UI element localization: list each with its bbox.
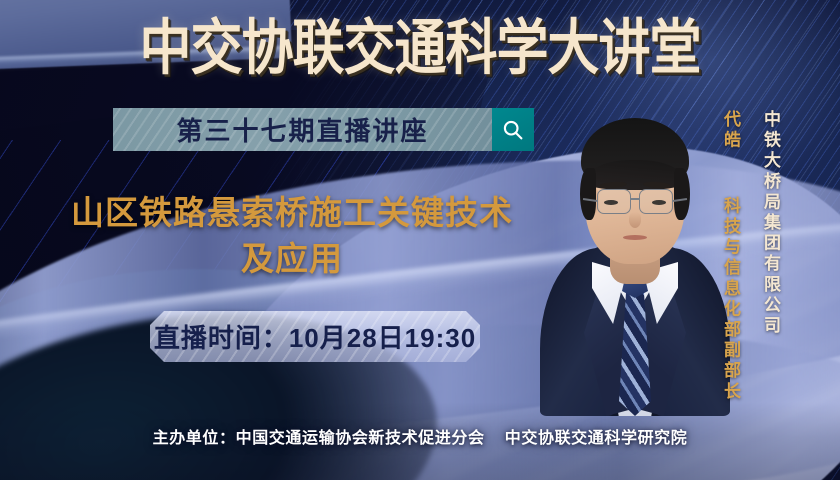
topic-title: 山区铁路悬索桥施工关键技术 及应用 <box>42 190 542 282</box>
broadcast-time-label: 直播时间：10月28日19:30 <box>150 311 480 362</box>
glasses-lens-right <box>639 189 673 214</box>
nose <box>629 212 641 228</box>
topic-line-2: 及应用 <box>42 236 542 282</box>
glasses-bridge <box>631 198 639 200</box>
speaker-portrait <box>540 86 730 416</box>
session-label: 第三十七期直播讲座 <box>113 108 492 151</box>
hair-side-right <box>674 168 690 220</box>
session-bar: 第三十七期直播讲座 <box>113 108 492 151</box>
mouth <box>623 235 647 240</box>
webinar-poster: 中交协联交通科学大讲堂 第三十七期直播讲座 山区铁路悬索桥施工关键技术 及应用 … <box>0 0 840 480</box>
glasses-lens-left <box>597 189 631 214</box>
search-button[interactable] <box>492 108 534 151</box>
organizer-footer: 主办单位：中国交通运输协会新技术促进分会 中交协联交通科学研究院 <box>0 424 840 448</box>
speaker-name-and-title: 代皓 科技与信息化部副部长 <box>718 110 743 402</box>
hair-side-left <box>580 168 596 220</box>
topic-line-1: 山区铁路悬索桥施工关键技术 <box>42 190 542 236</box>
search-icon <box>501 118 525 142</box>
broadcast-time-badge: 直播时间：10月28日19:30 <box>150 311 480 362</box>
speaker-organization: 中铁大桥局集团有限公司 <box>758 110 783 337</box>
page-title: 中交协联交通科学大讲堂 <box>0 13 840 85</box>
